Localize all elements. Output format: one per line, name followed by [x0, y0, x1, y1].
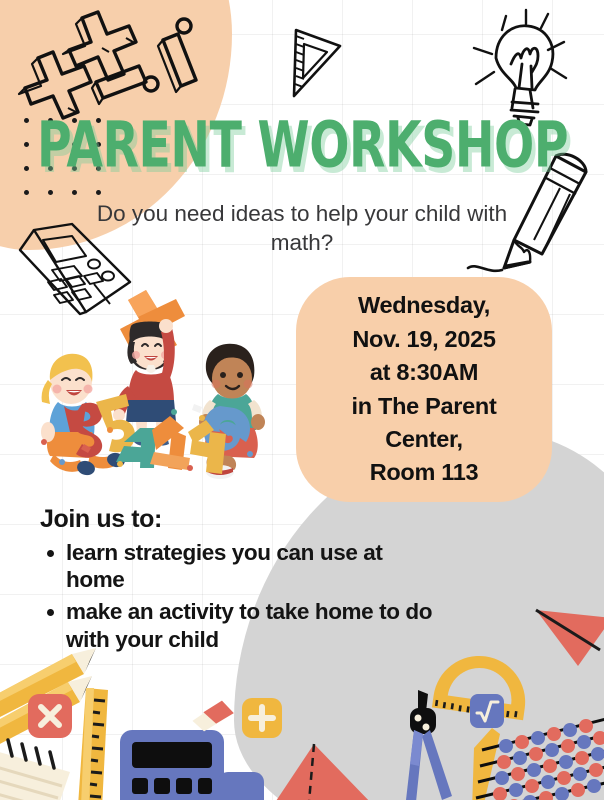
event-time: at 8:30AM: [370, 356, 478, 389]
event-location-1: in The Parent: [352, 390, 497, 423]
math-operators-doodle: [8, 4, 208, 124]
calculator-icon: [118, 728, 228, 800]
compass-icon: [392, 690, 472, 800]
event-day: Wednesday,: [358, 289, 490, 322]
page-subtitle: Do you need ideas to help your child wit…: [72, 200, 532, 258]
children-with-numbers-illustration: [24, 282, 276, 482]
join-list: learn strategies you can use at home mak…: [40, 539, 440, 653]
plus-badge-icon: [242, 698, 282, 738]
red-triangle-icon: [266, 744, 376, 800]
flyer-poster: PARENT WORKSHOP Do you need ideas to hel…: [0, 0, 604, 800]
square-root-badge-icon: [470, 694, 504, 728]
triangle-ruler-doodle: [278, 14, 348, 104]
event-date: Nov. 19, 2025: [352, 323, 495, 356]
title-wrapper: PARENT WORKSHOP: [0, 118, 604, 174]
abacus-icon: [470, 724, 604, 800]
join-section: Join us to: learn strategies you can use…: [40, 505, 440, 658]
list-item: learn strategies you can use at home: [40, 539, 440, 593]
blue-rounded-box-icon: [218, 772, 264, 800]
join-heading: Join us to:: [40, 505, 440, 534]
ruler-icon: [72, 688, 122, 800]
event-room: Room 113: [370, 456, 479, 489]
list-item: make an activity to take home to do with…: [40, 598, 440, 652]
page-title: PARENT WORKSHOP: [36, 114, 567, 177]
event-location-2: Center,: [385, 423, 463, 456]
eraser-icon: [190, 700, 236, 732]
red-triangle-icon: [534, 608, 604, 670]
event-details-card: Wednesday, Nov. 19, 2025 at 8:30AM in Th…: [296, 277, 552, 502]
